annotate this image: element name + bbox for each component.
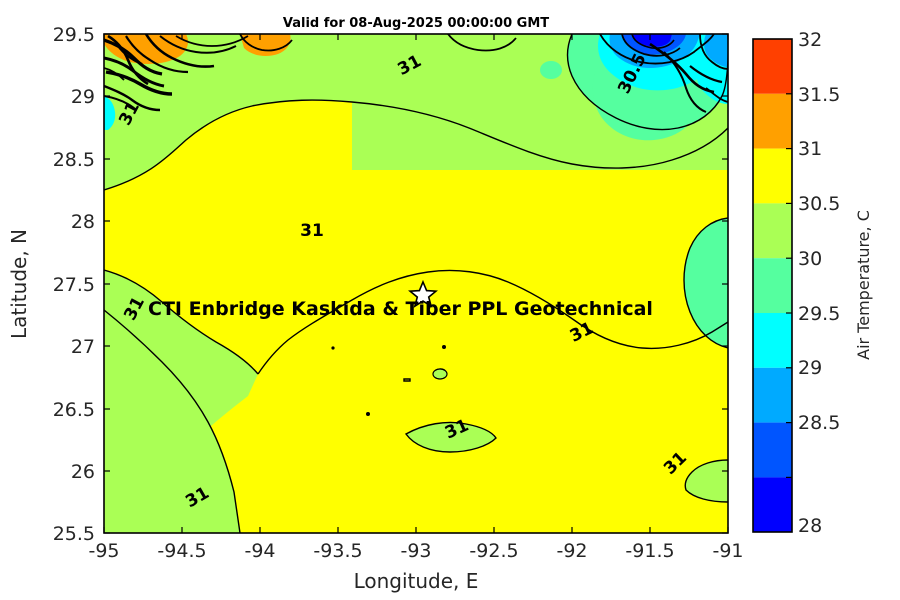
y-tick-label: 29	[71, 86, 95, 108]
plot-area	[104, 34, 729, 533]
tiny-green-blob	[433, 369, 447, 379]
colorbar-title: Air Temperature, C	[854, 210, 873, 360]
contour-plot-figure: 31 31 31 31 31 31 31 31 30.5 CTI Enbridg…	[0, 0, 900, 600]
x-axis-title: Longitude, E	[354, 569, 479, 593]
colorbar-band-30-30p5	[753, 203, 792, 258]
colorbar-tick-label: 28.5	[798, 412, 840, 434]
x-tick-label: -94	[244, 540, 275, 562]
speck-a	[331, 346, 334, 349]
colorbar-tick-label: 30	[798, 248, 822, 270]
colorbar-band-bottom	[753, 477, 792, 532]
x-tick-label: -92	[556, 540, 587, 562]
x-tick-label: -91	[712, 540, 743, 562]
y-axis-title: Latitude, N	[7, 229, 31, 339]
colorbar-tick-label: 28	[798, 515, 822, 537]
colorbar-tick-label: 30.5	[798, 193, 840, 215]
contour-label-31-mid: 31	[300, 221, 324, 241]
colorbar-band-31-31p5	[753, 94, 792, 149]
colorbar-band-29p5-30	[753, 258, 792, 313]
colorbar-tick-label: 31.5	[798, 84, 840, 106]
y-tick-label: 26	[71, 461, 95, 483]
colorbar-band-30p5-31	[753, 149, 792, 204]
speck-b	[442, 345, 446, 349]
colorbar-tick-label: 29	[798, 357, 822, 379]
x-tick-label: -93	[400, 540, 431, 562]
colorbar-tick-label: 29.5	[798, 303, 840, 325]
x-tick-label: -93.5	[313, 540, 362, 562]
y-tick-label: 28.5	[53, 149, 95, 171]
site-label: CTI Enbridge Kaskida & Tiber PPL Geotech…	[148, 298, 653, 320]
speck-c	[366, 412, 370, 416]
colorbar-band-29-29p5	[753, 313, 792, 368]
y-tick-label: 27.5	[53, 274, 95, 296]
y-tick-label: 28	[71, 211, 95, 233]
colorbar-tick-label: 31	[798, 138, 822, 160]
colorbar-band-31p5-32	[753, 39, 792, 94]
band-fill-30-dot	[540, 61, 562, 79]
y-tick-label: 26.5	[53, 399, 95, 421]
y-tick-label: 29.5	[53, 24, 95, 46]
y-tick-label: 27	[71, 336, 95, 358]
x-tick-label: -91.5	[625, 540, 674, 562]
colorbar-band-28p5-29	[753, 368, 792, 423]
y-tick-label: 25.5	[53, 523, 95, 545]
x-tick-label: -94.5	[157, 540, 206, 562]
page-title: Valid for 08-Aug-2025 00:00:00 GMT	[283, 16, 549, 31]
colorbar-band-28-28p5	[753, 423, 792, 478]
x-tick-label: -92.5	[469, 540, 518, 562]
colorbar-tick-label: 32	[798, 29, 822, 51]
